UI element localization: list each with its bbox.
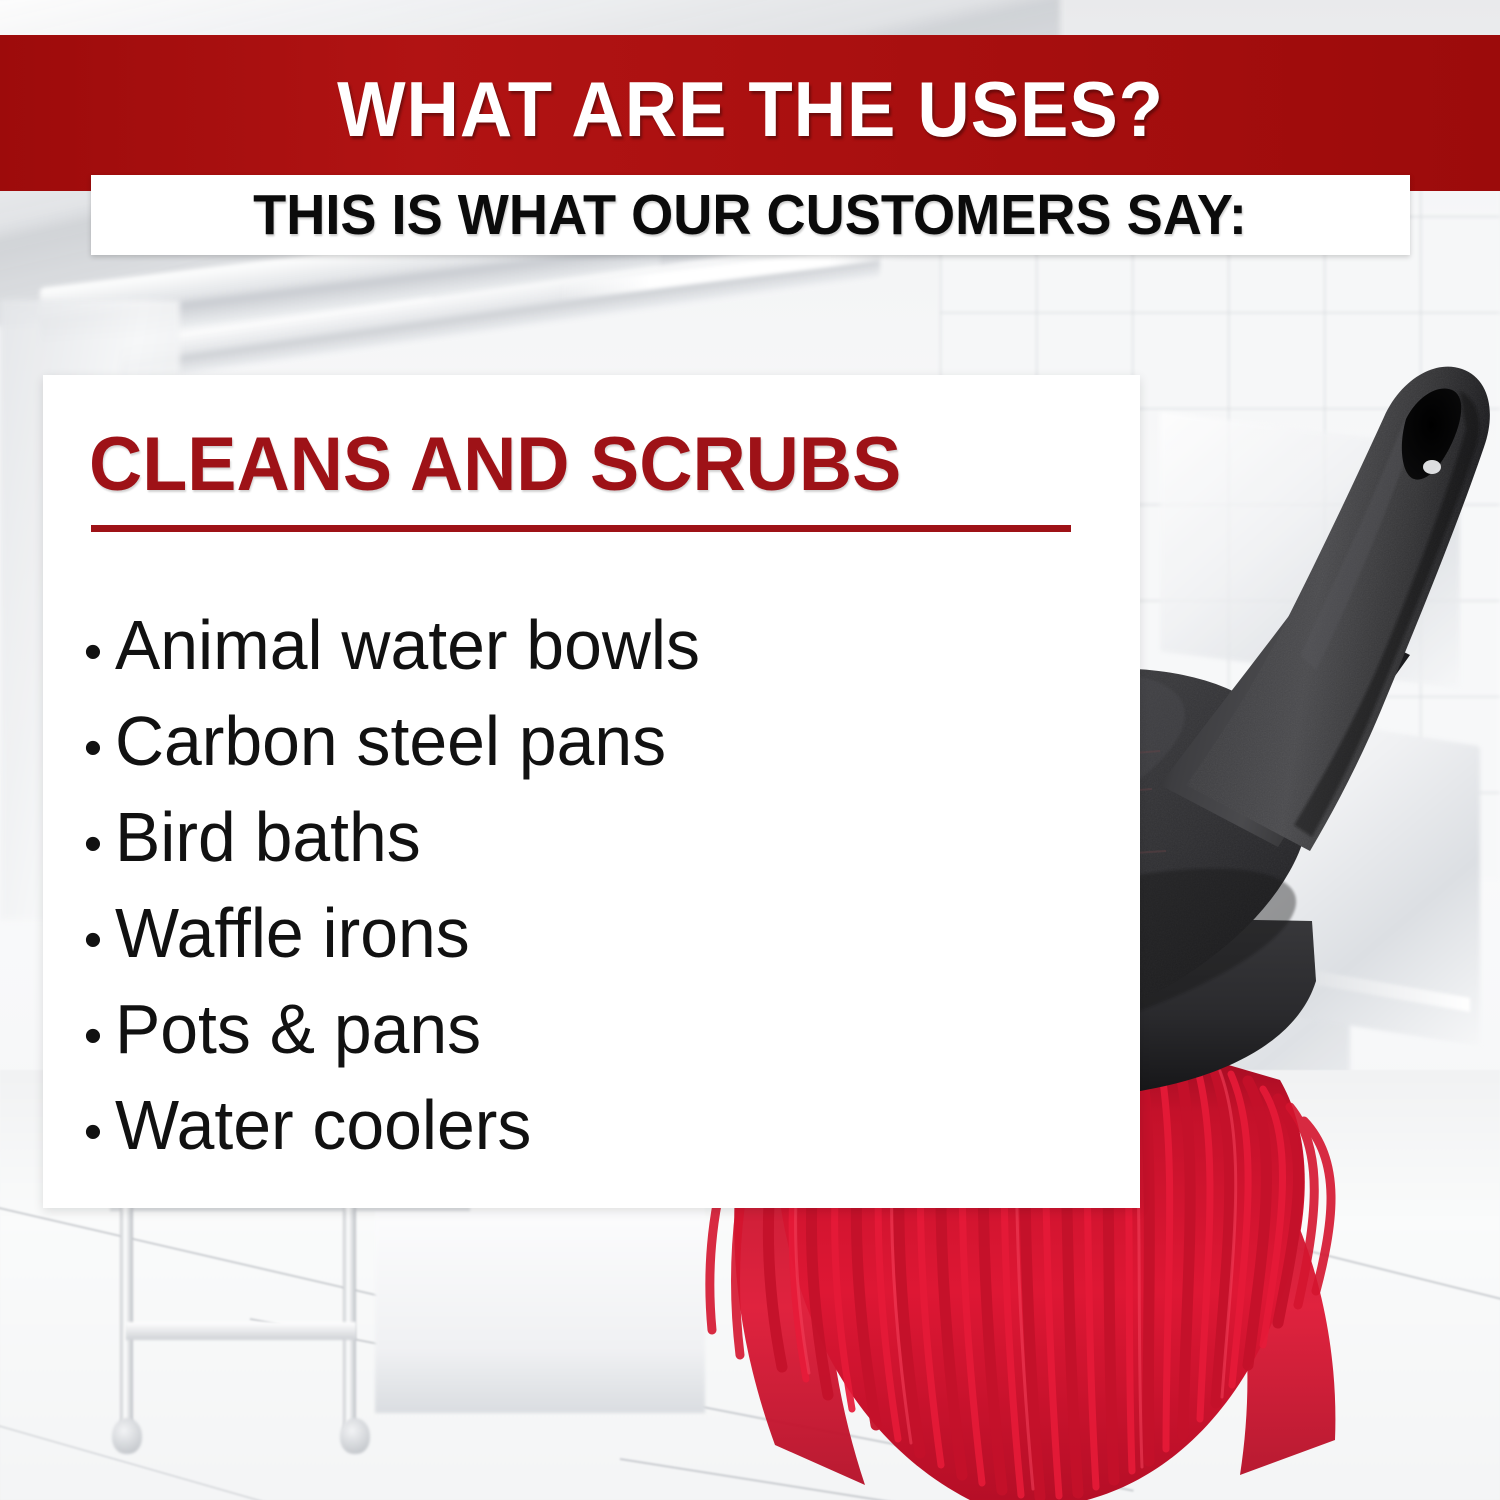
list-item-label: Animal water bowls [115,597,700,693]
subheadline-text: THIS IS WHAT OUR CUSTOMERS SAY: [254,187,1248,244]
headline-text: WHAT ARE THE USES? [337,70,1164,156]
list-item: • Pots & pans [71,981,718,1077]
list-item-label: Water coolers [115,1077,531,1173]
list-item: • Animal water bowls [71,597,718,693]
bullet-dot-icon: • [71,604,115,700]
bullet-dot-icon: • [71,1084,115,1180]
prep-cart-shelf [126,1322,356,1340]
bullet-dot-icon: • [71,700,115,796]
uses-bullet-list: • Animal water bowls • Carbon steel pans… [71,597,718,1173]
kitchen-cabinet [375,1198,705,1413]
list-item-label: Bird baths [115,789,421,885]
list-item-label: Pots & pans [115,981,481,1077]
prep-cart-caster [112,1418,142,1454]
bullet-dot-icon: • [71,988,115,1084]
list-item-label: Carbon steel pans [115,693,666,789]
subheadline-band: THIS IS WHAT OUR CUSTOMERS SAY: [91,175,1410,255]
title-underline-rule [91,525,1071,532]
list-item: • Waffle irons [71,885,718,981]
tile-grout-line [0,1408,344,1500]
prep-cart-caster [340,1418,370,1454]
bullet-dot-icon: • [71,892,115,988]
prep-cart-leg [343,1200,356,1430]
list-item-label: Waffle irons [115,885,470,981]
list-item: • Bird baths [71,789,718,885]
bullet-dot-icon: • [71,796,115,892]
product-infographic: WHAT ARE THE USES? THIS IS WHAT OUR CUST… [0,0,1500,1500]
list-item: • Water coolers [71,1077,718,1173]
card-title: CLEANS AND SCRUBS [89,427,901,503]
prep-cart-leg [120,1200,133,1430]
tile-grout-line [620,1458,1500,1500]
uses-content-card: CLEANS AND SCRUBS • Animal water bowls •… [43,375,1140,1208]
headline-band: WHAT ARE THE USES? [0,35,1500,191]
list-item: • Carbon steel pans [71,693,718,789]
kitchen-equipment [1160,412,1460,689]
